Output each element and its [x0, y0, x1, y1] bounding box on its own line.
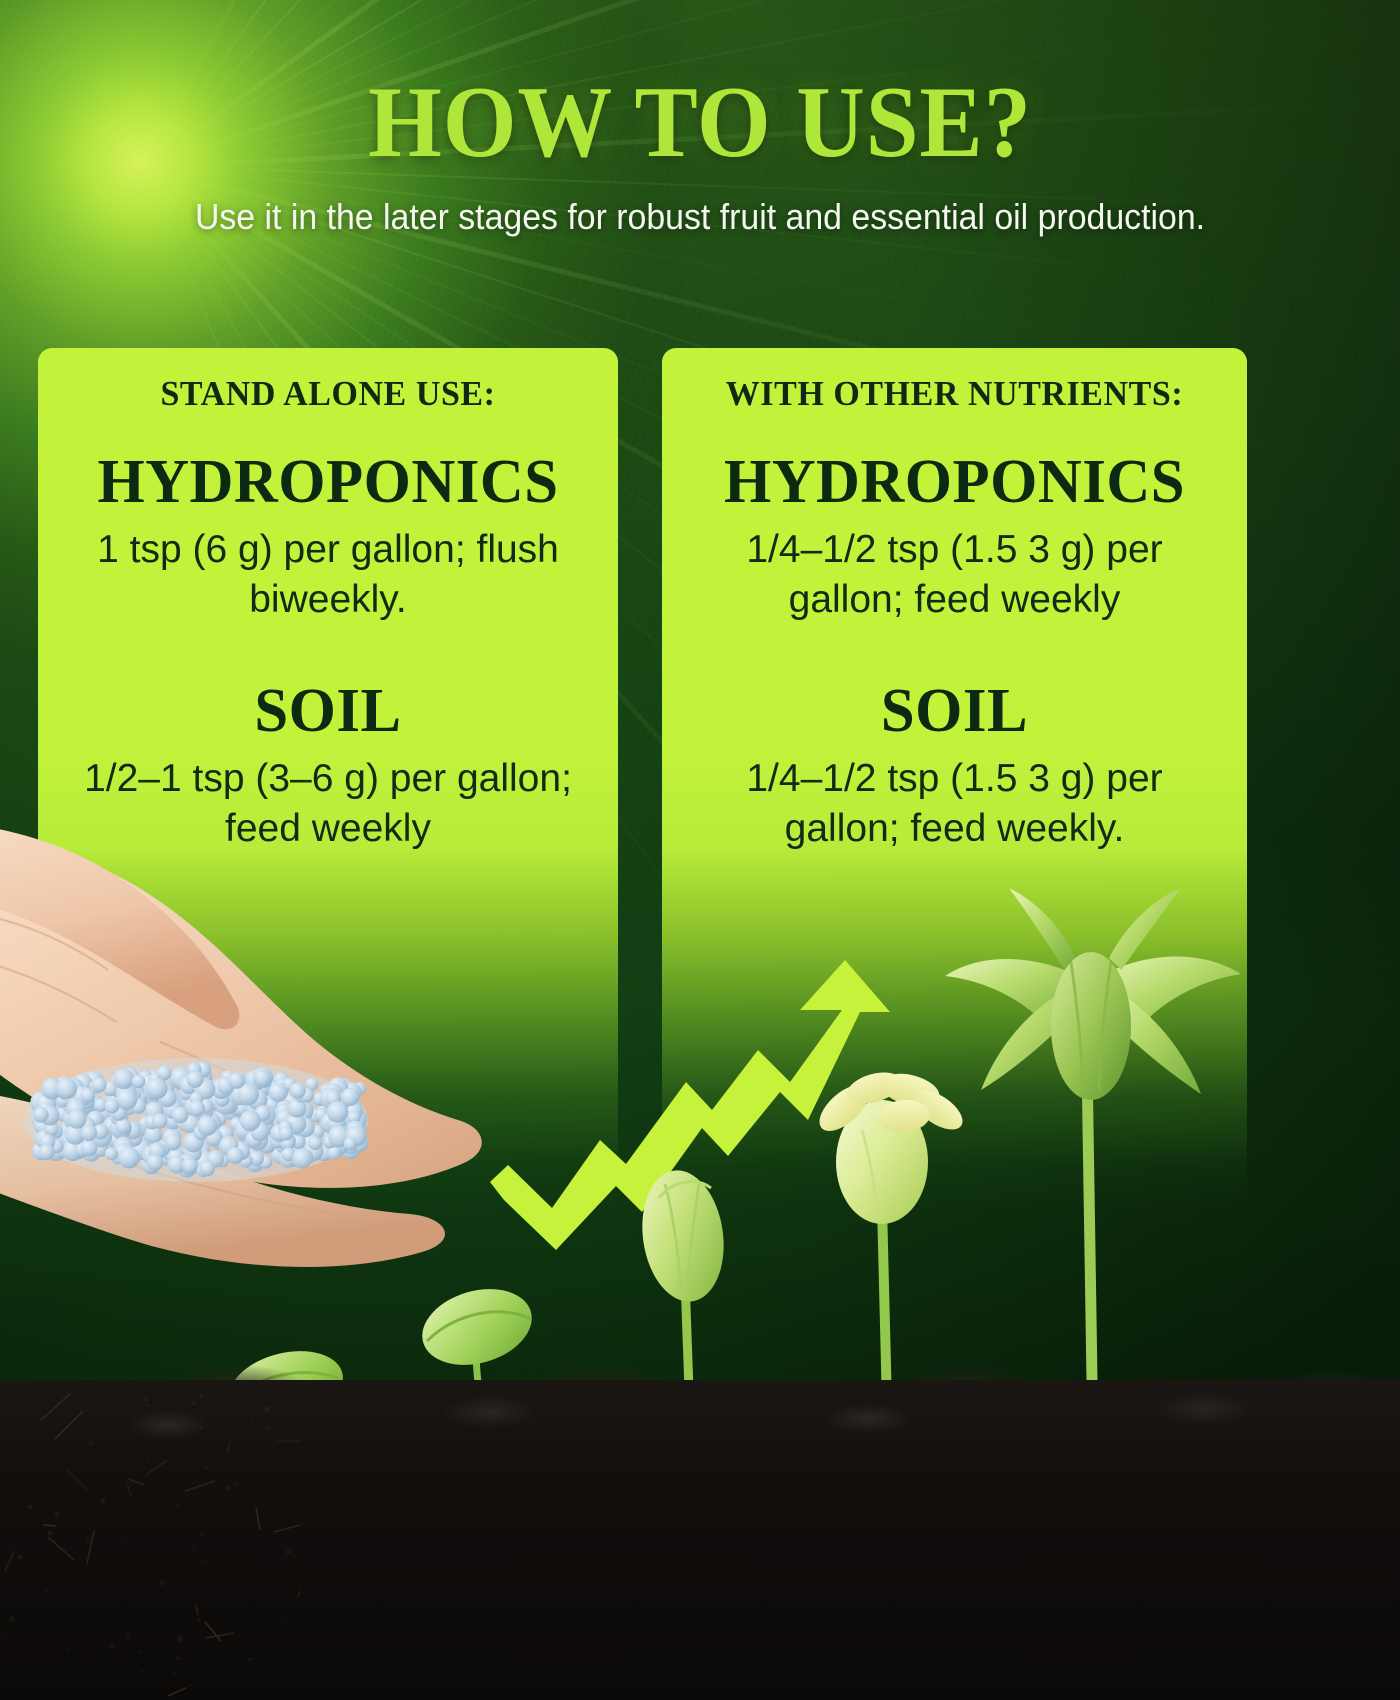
card-heading: STAND ALONE USE: [47, 374, 610, 414]
section-title: HYDROPONICS [44, 450, 612, 515]
section-title: SOIL [668, 679, 1241, 744]
header: HOW TO USE? Use it in the later stages f… [0, 72, 1400, 241]
section-body: 1/2–1 tsp (3–6 g) per gallon; feed weekl… [38, 754, 618, 854]
instruction-cards: STAND ALONE USE: HYDROPONICS 1 tsp (6 g)… [0, 348, 1400, 1208]
section-body: 1 tsp (6 g) per gallon; flush biweekly. [38, 525, 618, 625]
section-soil: SOIL 1/4–1/2 tsp (1.5 3 g) per gallon; f… [662, 679, 1247, 854]
section-soil: SOIL 1/2–1 tsp (3–6 g) per gallon; feed … [38, 679, 618, 854]
infographic-canvas: HOW TO USE? Use it in the later stages f… [0, 0, 1400, 1700]
section-title: SOIL [44, 679, 612, 744]
section-hydroponics: HYDROPONICS 1 tsp (6 g) per gallon; flus… [38, 450, 618, 625]
section-hydroponics: HYDROPONICS 1/4–1/2 tsp (1.5 3 g) per ga… [662, 450, 1247, 625]
section-title: HYDROPONICS [668, 450, 1241, 515]
card-stand-alone-use: STAND ALONE USE: HYDROPONICS 1 tsp (6 g)… [38, 348, 618, 1208]
page-subtitle: Use it in the later stages for robust fr… [42, 194, 1358, 241]
card-heading: WITH OTHER NUTRIENTS: [671, 374, 1238, 414]
card-with-other-nutrients: WITH OTHER NUTRIENTS: HYDROPONICS 1/4–1/… [662, 348, 1247, 1208]
page-title: HOW TO USE? [49, 72, 1351, 174]
section-body: 1/4–1/2 tsp (1.5 3 g) per gallon; feed w… [662, 754, 1247, 854]
section-body: 1/4–1/2 tsp (1.5 3 g) per gallon; feed w… [662, 525, 1247, 625]
